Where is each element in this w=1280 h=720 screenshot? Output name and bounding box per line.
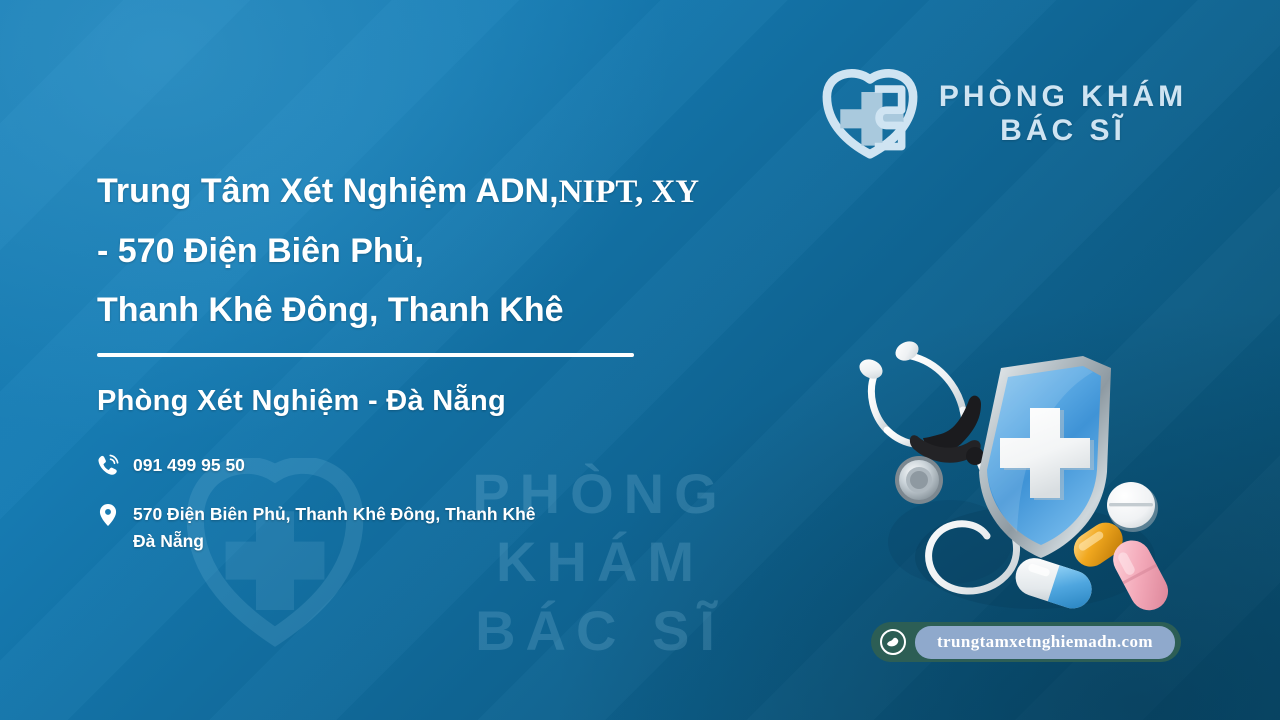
website-url: trungtamxetnghiemadn.com — [915, 626, 1175, 659]
heart-medical-cross-icon — [822, 68, 918, 160]
page-title: Trung Tâm Xét Nghiệm ADN,NIPT, XY - 570 … — [97, 162, 967, 340]
logo-line-2: BÁC SĨ — [934, 114, 1192, 148]
title-line-1-emphasis: NIPT, XY — [559, 174, 700, 210]
title-line-1-main: Trung Tâm Xét Nghiệm ADN, — [97, 172, 559, 210]
page-subtitle: Phòng Xét Nghiệm - Đà Nẵng — [97, 385, 506, 418]
watermark-line-2: BÁC SĨ — [365, 597, 835, 665]
contact-row-phone[interactable]: 091 499 95 50 — [97, 452, 797, 479]
clinic-logo: PHÒNG KHÁM BÁC SĨ — [822, 66, 1192, 162]
address-line-2: Đà Nẵng — [133, 528, 536, 555]
stethoscope-chestpiece — [895, 456, 943, 504]
website-badge[interactable]: trungtamxetnghiemadn.com — [871, 622, 1181, 662]
contact-row-address[interactable]: 570 Điện Biên Phủ, Thanh Khê Đông, Thanh… — [97, 501, 797, 555]
contact-block: 091 499 95 50 570 Điện Biên Phủ, Thanh K… — [97, 452, 797, 577]
stethoscope-earpieces — [856, 338, 921, 382]
logo-wordmark: PHÒNG KHÁM BÁC SĨ — [934, 80, 1192, 147]
medical-shield-stethoscope-illustration — [845, 332, 1180, 624]
banner-canvas: PHÒNG KHÁM BÁC SĨ PHÒNG KHÁM BÁC SĨ Trun… — [0, 0, 1280, 720]
title-line-2: - 570 Điện Biên Phủ, — [97, 222, 967, 281]
title-divider — [97, 353, 634, 357]
logo-line-1: PHÒNG KHÁM — [934, 80, 1192, 114]
phone-icon — [97, 453, 119, 479]
location-pin-icon — [97, 502, 119, 528]
phone-number: 091 499 95 50 — [133, 452, 245, 479]
title-line-1: Trung Tâm Xét Nghiệm ADN,NIPT, XY — [97, 162, 967, 222]
stethoscope-binaural — [910, 396, 984, 465]
address-line-1: 570 Điện Biên Phủ, Thanh Khê Đông, Thanh… — [133, 501, 536, 528]
title-line-3: Thanh Khê Đông, Thanh Khê — [97, 281, 967, 340]
globe-icon — [879, 628, 907, 656]
address-text: 570 Điện Biên Phủ, Thanh Khê Đông, Thanh… — [133, 501, 536, 555]
